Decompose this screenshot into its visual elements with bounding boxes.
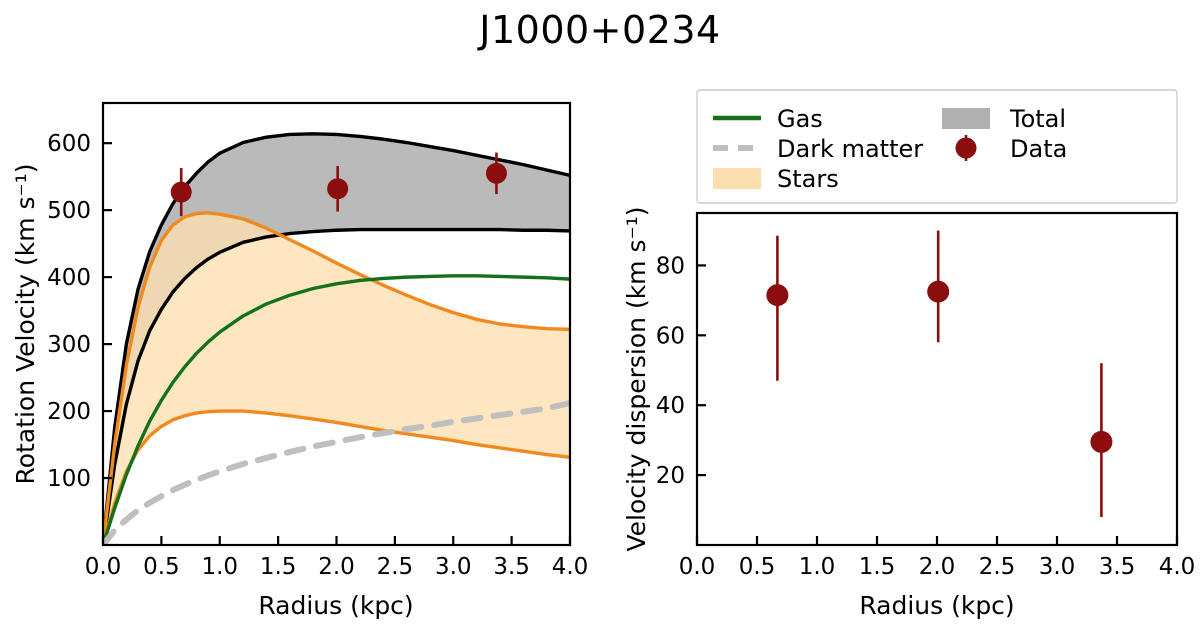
data-point — [766, 284, 788, 306]
legend-stars-label: Stars — [777, 165, 839, 193]
right-panel: 0.00.51.01.52.02.53.03.54.020406080 Radi… — [622, 207, 1195, 620]
y-tick-label: 60 — [656, 323, 685, 349]
x-tick-label: 1.5 — [859, 554, 896, 580]
x-tick-label: 4.0 — [552, 554, 589, 580]
x-tick-label: 1.0 — [201, 554, 238, 580]
y-tick-label: 80 — [656, 253, 685, 279]
y-tick-label: 300 — [47, 332, 91, 358]
y-tick-label: 500 — [47, 198, 91, 224]
x-tick-label: 2.0 — [919, 554, 956, 580]
x-tick-label: 0.0 — [85, 554, 122, 580]
figure-canvas: 0.00.51.01.52.02.53.03.54.01002003004005… — [0, 0, 1200, 628]
x-tick-label: 2.5 — [377, 554, 414, 580]
legend-stars-patch-icon — [713, 168, 761, 189]
data-point — [1090, 431, 1112, 453]
x-tick-label: 1.0 — [799, 554, 836, 580]
x-tick-label: 2.5 — [979, 554, 1016, 580]
legend: GasDark matterStarsTotalData — [697, 90, 1177, 203]
figure: J1000+0234 0.00.51.01.52.02.53.03.54.010… — [0, 0, 1200, 628]
x-tick-label: 3.0 — [1039, 554, 1076, 580]
y-tick-label: 200 — [47, 399, 91, 425]
y-tick-label: 400 — [47, 265, 91, 291]
left-panel-ylabel: Rotation Velocity (km s⁻¹) — [11, 163, 40, 484]
x-tick-label: 0.5 — [143, 554, 180, 580]
y-tick-label: 100 — [47, 466, 91, 492]
x-tick-label: 4.0 — [1159, 554, 1196, 580]
data-point — [486, 163, 507, 184]
legend-total-patch-icon — [942, 108, 990, 129]
right-panel-ylabel: Velocity dispersion (km s⁻¹) — [622, 207, 651, 552]
y-tick-label: 20 — [656, 463, 685, 489]
legend-box — [697, 90, 1177, 203]
x-tick-label: 0.5 — [739, 554, 776, 580]
x-tick-label: 0.0 — [679, 554, 716, 580]
x-tick-label: 3.0 — [435, 554, 472, 580]
x-tick-label: 3.5 — [493, 554, 530, 580]
data-point — [171, 182, 192, 203]
data-point — [327, 178, 348, 199]
legend-total-label: Total — [1009, 105, 1066, 133]
right-panel-ticks: 0.00.51.01.52.02.53.03.54.020406080 — [656, 253, 1196, 580]
legend-data-label: Data — [1010, 135, 1067, 163]
x-tick-label: 3.5 — [1099, 554, 1136, 580]
left-panel-xlabel: Radius (kpc) — [258, 591, 413, 620]
x-tick-label: 2.0 — [318, 554, 355, 580]
legend-data-point-icon — [956, 138, 977, 159]
legend-dark-matter-label: Dark matter — [777, 135, 923, 163]
left-panel: 0.00.51.01.52.02.53.03.54.01002003004005… — [11, 103, 588, 620]
y-tick-label: 40 — [656, 393, 685, 419]
right-panel-data-points — [766, 230, 1112, 517]
legend-gas-label: Gas — [777, 105, 823, 133]
x-tick-label: 1.5 — [260, 554, 297, 580]
data-point — [927, 281, 949, 303]
y-tick-label: 600 — [47, 131, 91, 157]
right-panel-xlabel: Radius (kpc) — [859, 591, 1014, 620]
